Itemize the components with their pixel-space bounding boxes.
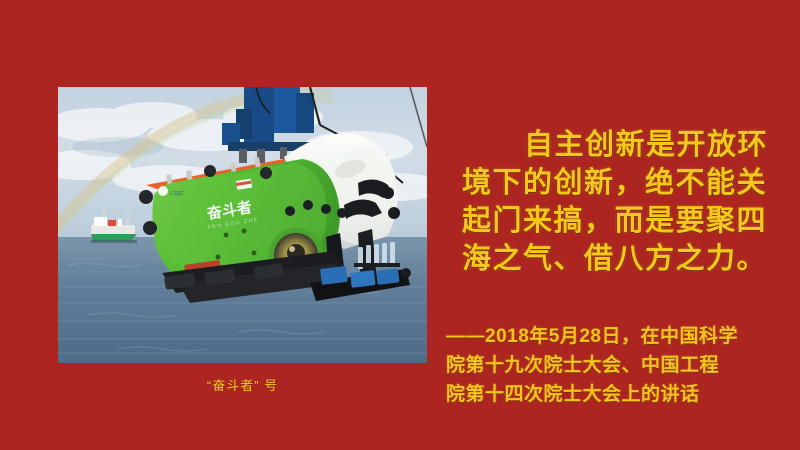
quote-line-2: 境下的创新，绝不能关 <box>462 164 762 202</box>
svg-text:CSSC: CSSC <box>170 191 184 197</box>
presentation-slide: 奋斗者 FEN DOU ZHE CSSC <box>0 0 800 450</box>
attribution-line-3: 院第十四次院士大会上的讲话 <box>446 380 766 409</box>
photo-caption: “奋斗者” 号 <box>58 375 427 394</box>
quote-line-1: 自主创新是开放环 <box>462 126 762 164</box>
photo-illustration: 奋斗者 FEN DOU ZHE CSSC <box>58 87 427 363</box>
fendouzhe-submersible-photo: 奋斗者 FEN DOU ZHE CSSC <box>58 87 427 363</box>
quote-line-3: 起门来搞，而是要聚四 <box>462 202 762 240</box>
quote-text-block: 自主创新是开放环 境下的创新，绝不能关 起门来搞，而是要聚四 海之气、借八方之力… <box>462 126 762 278</box>
attribution-line-2: 院第十九次院士大会、中国工程 <box>446 351 766 380</box>
attribution-block: ——2018年5月28日，在中国科学 院第十九次院士大会、中国工程 院第十四次院… <box>446 322 766 409</box>
attribution-line-1: ——2018年5月28日，在中国科学 <box>446 322 766 351</box>
quote-line-4: 海之气、借八方之力。 <box>462 240 762 278</box>
